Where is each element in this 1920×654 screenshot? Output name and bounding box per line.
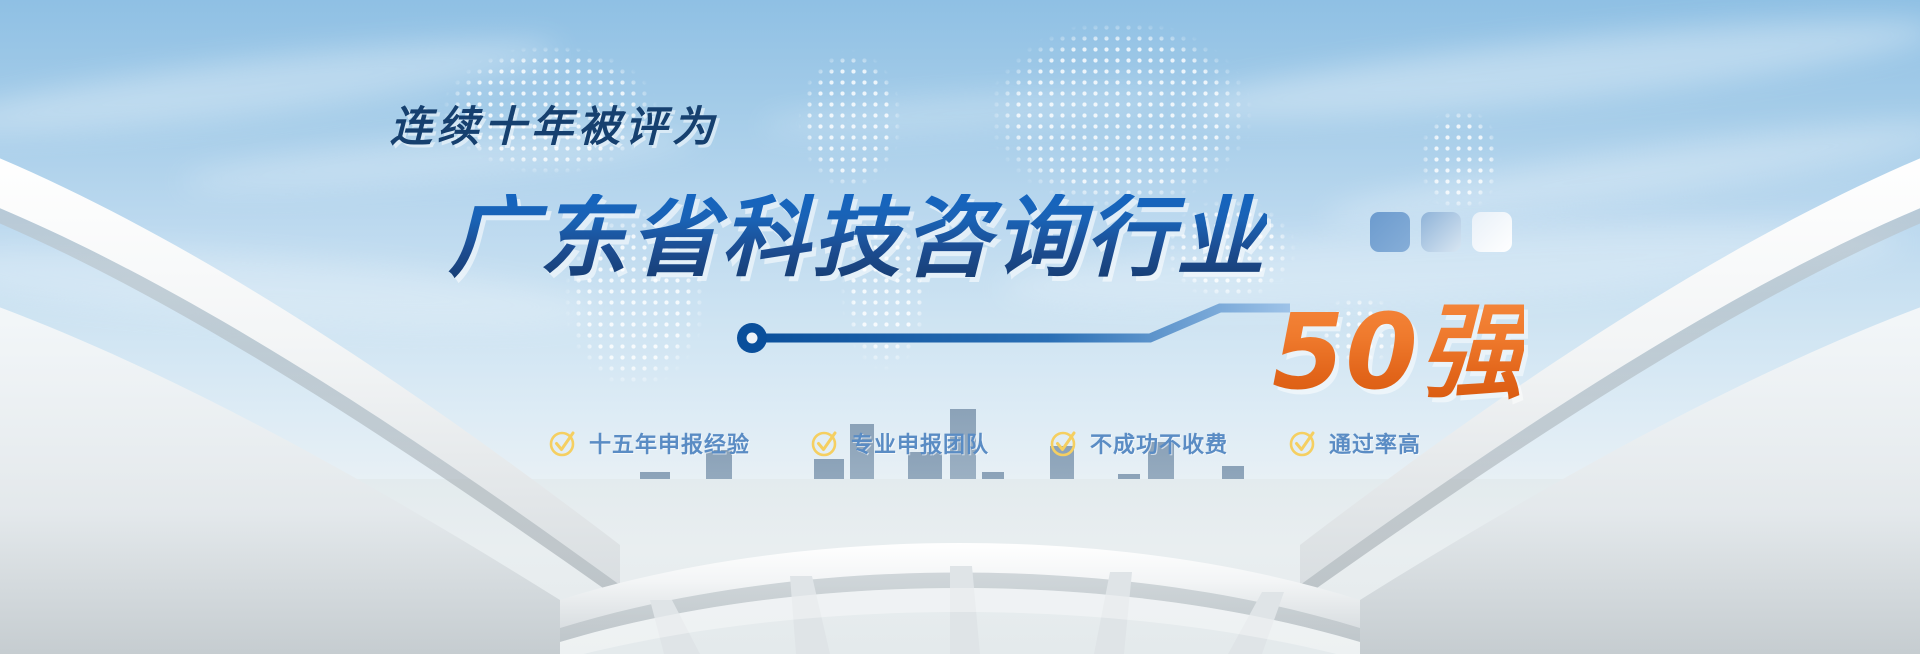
- feature-item: 通过率高: [1288, 427, 1421, 459]
- decor-square-1: [1370, 212, 1410, 252]
- promo-banner: 连续十年被评为 广东省科技咨询行业: [0, 0, 1920, 654]
- feature-item: 专业申报团队: [810, 427, 989, 459]
- feature-list: 十五年申报经验 专业申报团队 不成功不收费: [548, 427, 1421, 459]
- feature-label: 十五年申报经验: [589, 427, 750, 459]
- circle-check-icon: [1049, 428, 1079, 458]
- circle-check-icon: [1288, 428, 1318, 458]
- page-title: 广东省科技咨询行业: [448, 194, 1267, 282]
- circle-check-icon: [548, 428, 578, 458]
- feature-label: 通过率高: [1329, 427, 1421, 459]
- feature-label: 专业申报团队: [851, 427, 989, 459]
- rank-badge-text: 50强: [1272, 300, 1524, 404]
- eyebrow-text: 连续十年被评为: [390, 93, 719, 154]
- connector-arrow-line: [730, 300, 1290, 370]
- decor-square-2: [1421, 212, 1461, 252]
- decor-square-3: [1472, 212, 1512, 252]
- feature-item: 不成功不收费: [1049, 427, 1228, 459]
- feature-item: 十五年申报经验: [548, 427, 750, 459]
- feature-label: 不成功不收费: [1090, 427, 1228, 459]
- banner-content: 连续十年被评为 广东省科技咨询行业: [0, 0, 1920, 654]
- circle-check-icon: [810, 428, 840, 458]
- decor-squares-group: [1370, 212, 1512, 252]
